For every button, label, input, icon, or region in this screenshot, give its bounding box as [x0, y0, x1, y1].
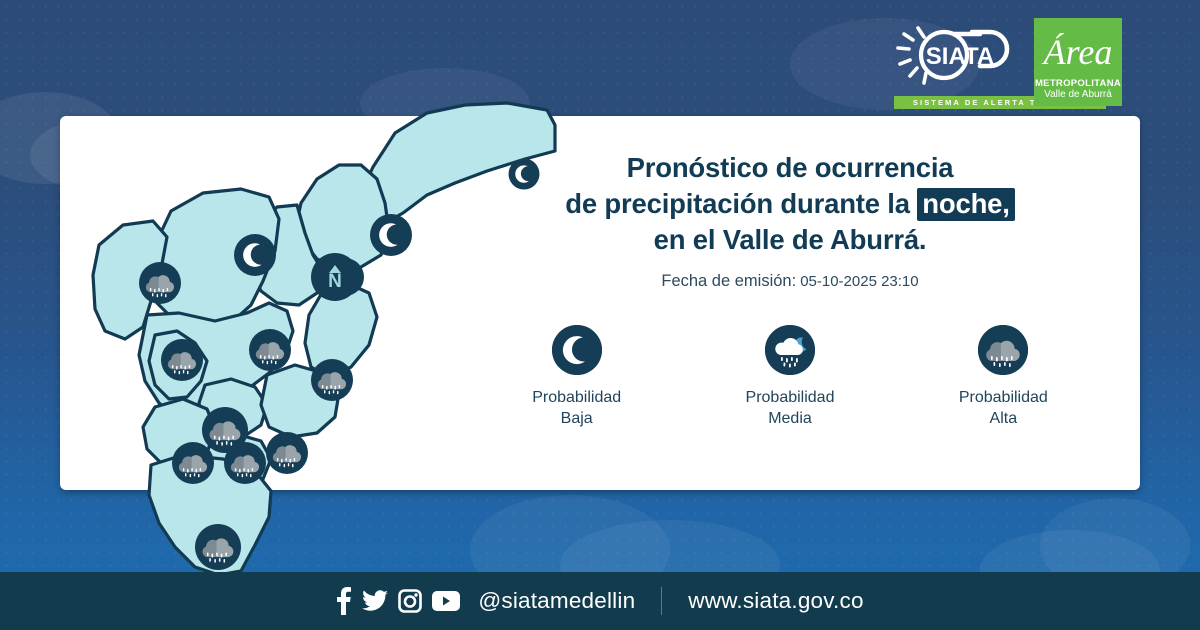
infographic-root: N Pronóstico de ocurrencia de precipitac… — [0, 0, 1200, 630]
area-logo-line1: METROPOLITANA — [1035, 78, 1121, 89]
legend-label-media-l1: Probabilidad — [746, 387, 835, 408]
legend-label-alta-l1: Probabilidad — [959, 387, 1048, 408]
legend-label-baja: Probabilidad Baja — [532, 387, 621, 429]
legend-label-baja-l1: Probabilidad — [532, 387, 621, 408]
legend-label-alta: Probabilidad Alta — [959, 387, 1048, 429]
valle-de-aburra-map — [55, 55, 555, 575]
cloud-rain-icon — [978, 325, 1028, 375]
cloud-rain-icon — [172, 442, 214, 484]
social-icon-group — [336, 587, 460, 615]
svg-text:Área: Área — [1042, 32, 1113, 72]
legend-item-baja: Probabilidad Baja — [470, 325, 683, 429]
legend-label-media: Probabilidad Media — [746, 387, 835, 429]
cloud-rain-icon — [224, 442, 266, 484]
emission-date: Fecha de emisión:05-10-2025 23:10 — [470, 272, 1110, 291]
cloud-rain-icon — [139, 262, 181, 304]
area-script-icon: Área — [1034, 20, 1122, 78]
siata-logo: SIATA SISTEMA DE ALERTA TEMPRANA — [894, 18, 1026, 97]
title-line-2: de precipitación durante la noche, — [470, 186, 1110, 222]
youtube-icon[interactable] — [432, 591, 460, 611]
svg-text:SIATA: SIATA — [926, 43, 994, 70]
moon-icon — [234, 234, 276, 276]
legend-label-baja-l2: Baja — [532, 408, 621, 429]
moon-icon — [370, 214, 412, 256]
cloud-rain-icon — [311, 359, 353, 401]
facebook-icon[interactable] — [336, 587, 352, 615]
twitter-icon[interactable] — [362, 589, 388, 613]
cloud-rain-icon — [249, 329, 291, 371]
legend-item-alta: Probabilidad Alta — [897, 325, 1110, 429]
legend-label-alta-l2: Alta — [959, 408, 1048, 429]
title-highlight-noche: noche, — [917, 188, 1014, 221]
cloud-rain-icon — [195, 524, 241, 570]
headline-block: Pronóstico de ocurrencia de precipitació… — [470, 150, 1110, 291]
footer-bar: @siatamedellin www.siata.gov.co — [0, 572, 1200, 630]
area-metropolitana-logo: Área METROPOLITANA Valle de Aburrá — [1034, 18, 1122, 106]
cloud-rain-icon — [161, 339, 203, 381]
title-line-1: Pronóstico de ocurrencia — [470, 150, 1110, 186]
legend-label-media-l2: Media — [746, 408, 835, 429]
title-line-2-text: de precipitación durante la — [565, 188, 910, 219]
website-url[interactable]: www.siata.gov.co — [688, 588, 863, 614]
compass-north-icon: N — [311, 253, 359, 301]
title-line-3: en el Valle de Aburrá. — [470, 222, 1110, 258]
moon-icon — [552, 325, 602, 375]
social-handle[interactable]: @siatamedellin — [478, 588, 635, 614]
area-logo-line2: Valle de Aburrá — [1044, 89, 1112, 101]
emission-value: 05-10-2025 23:10 — [800, 273, 918, 290]
cloud-moon-rain-icon — [765, 325, 815, 375]
siata-sun-cloud-icon: SIATA — [894, 18, 1026, 92]
footer-divider — [661, 587, 662, 615]
legend-item-media: Probabilidad Media — [683, 325, 896, 429]
instagram-icon[interactable] — [398, 589, 422, 613]
compass-label: N — [328, 274, 342, 290]
emission-label: Fecha de emisión: — [661, 272, 796, 290]
logo-group: SIATA SISTEMA DE ALERTA TEMPRANA Área ME… — [894, 18, 1122, 106]
page-title: Pronóstico de ocurrencia de precipitació… — [470, 150, 1110, 258]
probability-legend: Probabilidad Baja Probabilidad Media — [470, 325, 1110, 429]
cloud-rain-icon — [266, 432, 308, 474]
